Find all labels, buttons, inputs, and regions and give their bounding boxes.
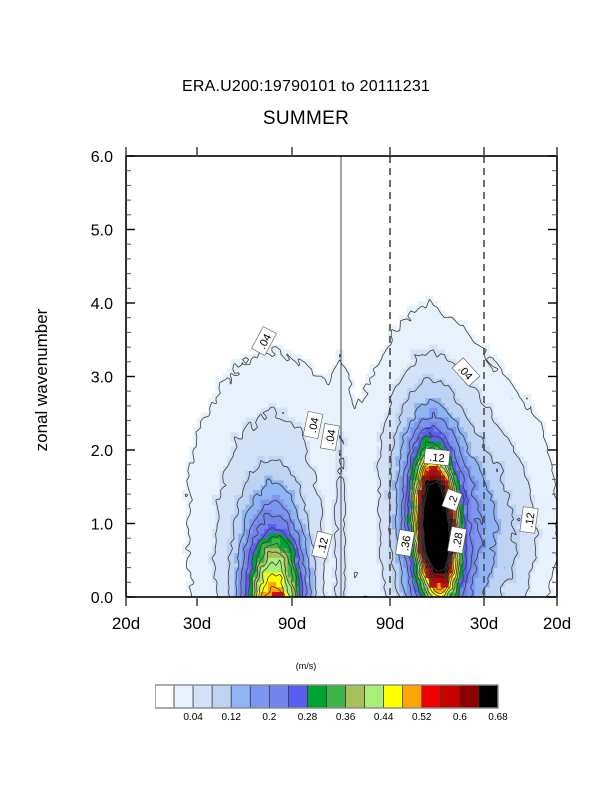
colorbar-swatch [155,685,174,708]
colorbar-swatch [269,685,288,708]
y-tick-label: 3.0 [91,370,113,387]
contour-label: .12 [520,507,538,534]
y-tick-label: 6.0 [91,149,113,166]
colorbar-swatch [346,685,365,708]
colorbar-swatch [422,685,441,708]
colorbar-swatch [365,685,384,708]
contour-label-text: .12 [523,512,537,529]
x-tick-label: 90d [376,614,404,633]
colorbar-tick-labels: 0.040.120.20.280.360.440.520.60.68 [0,712,612,734]
colorbar-units-label: (m/s) [0,661,612,671]
colorbar [155,684,501,710]
colorbar-swatch [212,685,231,708]
colorbar-swatch [231,685,250,708]
y-tick-label: 0.0 [91,590,113,607]
colorbar-swatch [250,685,269,708]
colorbar-swatch [479,685,498,708]
x-tick-label: 20d [543,614,571,633]
colorbar-swatch [460,685,479,708]
figure-page: ERA.U200:19790101 to 20111231 SUMMER zon… [0,0,612,792]
contour-label: .12 [424,448,450,466]
x-tick-label: 30d [470,614,498,633]
colorbar-swatch [327,685,346,708]
colorbar-swatch [193,685,212,708]
colorbar-swatch [384,685,403,708]
x-tick-label: 90d [278,614,306,633]
colorbar-tick-label: 0.68 [468,712,528,723]
colorbar-swatch [307,685,326,708]
y-tick-label: 1.0 [91,517,113,534]
y-tick-label: 5.0 [91,223,113,240]
y-tick-label: 2.0 [91,443,113,460]
colorbar-swatch [403,685,422,708]
x-tick-label: 30d [183,614,211,633]
x-tick-label: 20d [112,614,140,633]
colorbar-swatch [441,685,460,708]
colorbar-swatch [174,685,193,708]
contour-label-text: .12 [429,452,445,466]
contour-plot: .04.04.04.04.12.12.12.2.28.36 6.05.04.03… [0,0,612,640]
colorbar-swatch [288,685,307,708]
y-tick-label: 4.0 [91,296,113,313]
